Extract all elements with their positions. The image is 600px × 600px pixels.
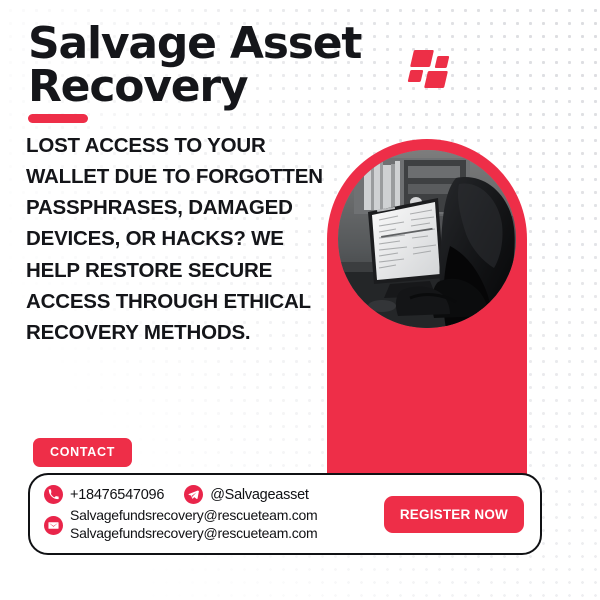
email-addresses: Salvagefundsrecovery@rescueteam.com Salv… [70,507,317,543]
page-title: Salvage Asset Recovery [28,22,400,108]
telegram-icon [184,485,203,504]
telegram-handle[interactable]: @Salvageasset [210,487,309,503]
phone-icon [44,485,63,504]
register-now-button[interactable]: REGISTER NOW [384,496,524,533]
email-line-2[interactable]: Salvagefundsrecovery@rescueteam.com [70,525,317,543]
envelope-icon [44,516,63,535]
title-underline-rule [28,114,88,123]
contact-bar: +18476547096 @Salvageasset Salvagefundsr… [28,473,542,555]
contact-row-phone-telegram: +18476547096 @Salvageasset [44,485,384,504]
phone-number[interactable]: +18476547096 [70,487,164,503]
email-line-1[interactable]: Salvagefundsrecovery@rescueteam.com [70,507,317,525]
promo-poster: Salvage Asset Recovery Lost access to yo… [0,0,600,600]
contact-details: +18476547096 @Salvageasset Salvagefundsr… [30,485,384,543]
body-paragraph: Lost access to your wallet due to forgot… [26,130,332,348]
brand-mark-icon [409,48,457,92]
hero-photo [338,150,516,328]
contact-row-email: Salvagefundsrecovery@rescueteam.com Salv… [44,507,384,543]
contact-button[interactable]: CONTACT [33,438,132,467]
